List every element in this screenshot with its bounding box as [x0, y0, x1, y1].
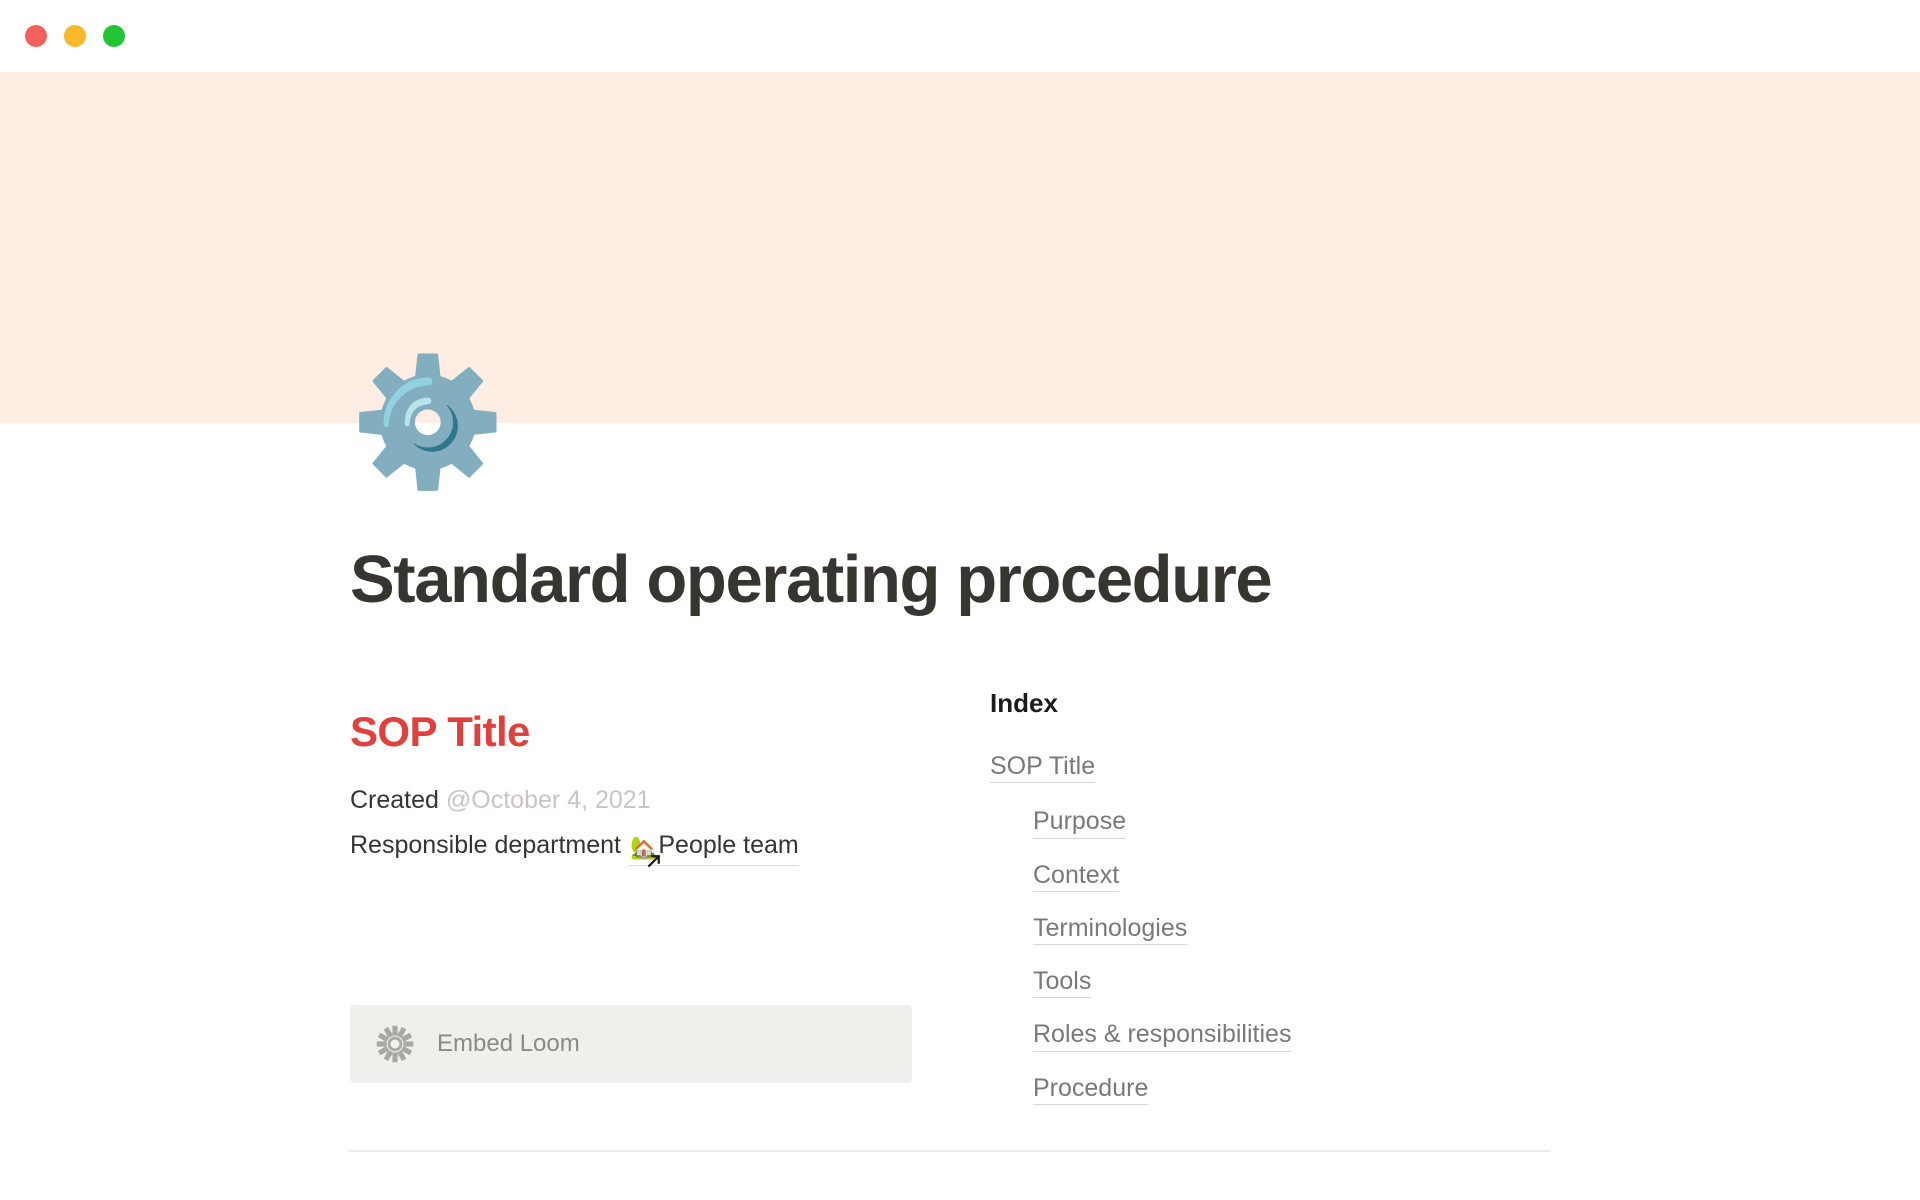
index-link-sop-title[interactable]: SOP Title [990, 751, 1095, 783]
traffic-lights [25, 25, 125, 47]
index-row: Terminologies [1033, 913, 1550, 945]
index-row: Tools [1033, 966, 1550, 998]
created-date: @October 4, 2021 [446, 786, 651, 814]
index-link-purpose[interactable]: Purpose [1033, 806, 1126, 838]
index-link-procedure[interactable]: Procedure [1033, 1073, 1148, 1105]
index-row: Purpose [1033, 806, 1550, 838]
close-button[interactable] [25, 25, 47, 47]
department-label: Responsible department [350, 831, 621, 859]
index-row: SOP Title [990, 751, 1550, 783]
minimize-button[interactable] [64, 25, 86, 47]
people-team-label: People team [658, 831, 798, 859]
gear-icon[interactable]: ⚙️ [350, 350, 495, 495]
index-link-tools[interactable]: Tools [1033, 966, 1091, 998]
window-titlebar [0, 0, 1920, 72]
house-icon: 🏡 [630, 833, 657, 865]
index-panel: Index SOP Title Purpose Context Terminol… [990, 688, 1550, 1126]
index-row: Context [1033, 860, 1550, 892]
loom-icon [375, 1024, 415, 1064]
created-line: Created @October 4, 2021 [350, 782, 925, 818]
index-heading: Index [990, 688, 1550, 719]
index-row: Procedure [1033, 1073, 1550, 1105]
people-team-mention-link[interactable]: 🏡 People team [628, 827, 799, 866]
page-title: Standard operating procedure [350, 541, 1271, 618]
sop-title-heading: SOP Title [350, 708, 925, 756]
maximize-button[interactable] [103, 25, 125, 47]
page-cover[interactable] [0, 72, 1920, 423]
created-label: Created [350, 786, 439, 814]
department-line: Responsible department 🏡 People team [350, 827, 925, 866]
left-column: SOP Title Created @October 4, 2021 Respo… [350, 708, 925, 875]
index-link-roles-responsibilities[interactable]: Roles & responsibilities [1033, 1019, 1291, 1051]
section-divider [349, 1150, 1551, 1152]
index-row: Roles & responsibilities [1033, 1019, 1550, 1051]
embed-loom-block[interactable]: Embed Loom [350, 1005, 912, 1083]
index-link-terminologies[interactable]: Terminologies [1033, 913, 1187, 945]
embed-loom-label: Embed Loom [437, 1030, 580, 1058]
index-link-context[interactable]: Context [1033, 860, 1119, 892]
